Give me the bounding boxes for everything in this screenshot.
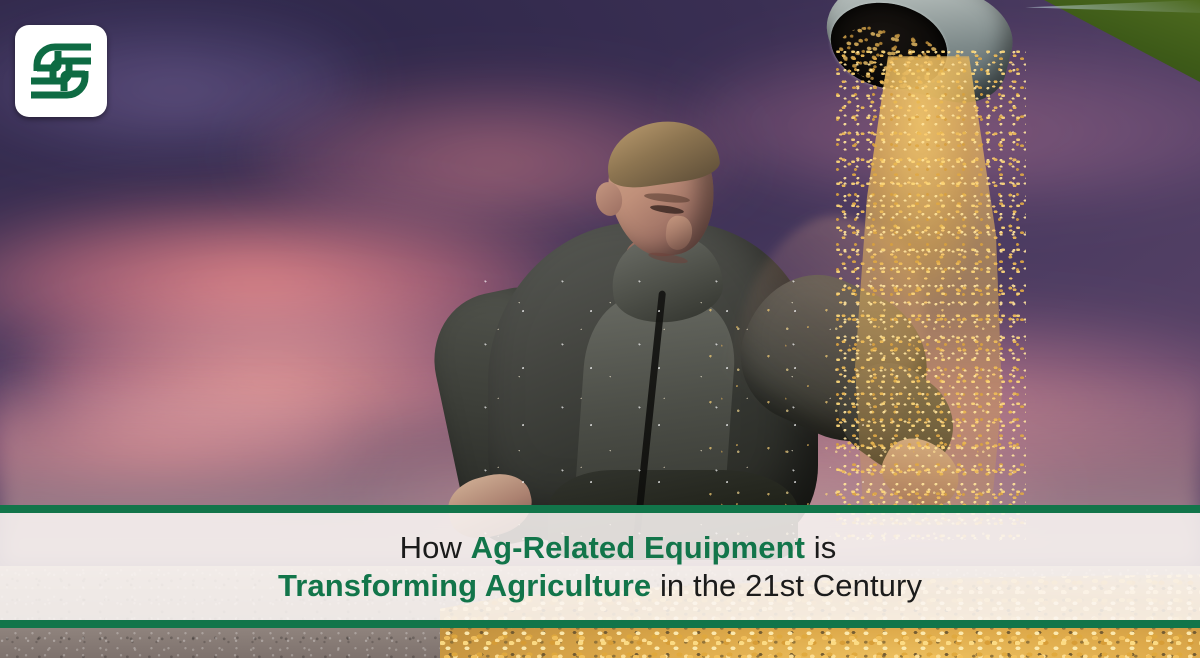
spiral-s-logo-icon (15, 25, 107, 117)
headline-band: How Ag-Related Equipment is Transforming… (0, 505, 1200, 628)
headline-line-1-run-1-emphasis: Ag-Related Equipment (471, 530, 805, 565)
headline-line-1: How Ag-Related Equipment is (364, 530, 837, 566)
headline-line-2-run-1-plain: in the 21st Century (651, 568, 922, 603)
headline-line-1-run-0-plain: How (400, 530, 471, 565)
site-logo[interactable] (15, 25, 107, 117)
hero-banner: How Ag-Related Equipment is Transforming… (0, 0, 1200, 658)
headline-line-2-run-0-emphasis: Transforming Agriculture (278, 568, 651, 603)
headline-line-2: Transforming Agriculture in the 21st Cen… (278, 568, 922, 604)
headline-line-1-run-2-plain: is (805, 530, 836, 565)
